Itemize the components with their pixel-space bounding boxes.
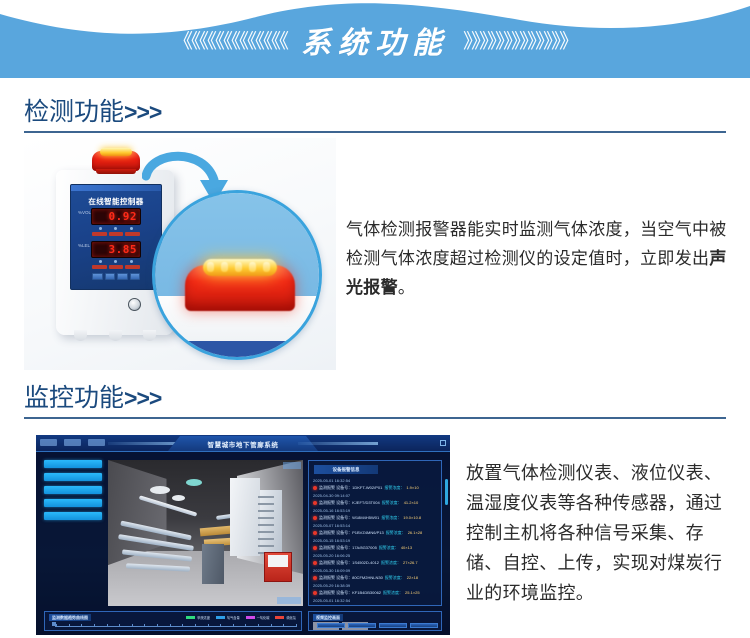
alarm-panel-title: 设备报警信息 [314,465,378,474]
alarm-date: 2025-04-30 09:14:07 [313,492,437,499]
legend-item[interactable]: 甲烷浓度 [186,615,210,620]
alarm-row[interactable]: 监测报警 设备号：KJEFT/D3T004报警浓度：41.2×10 [313,499,437,507]
legend-label: 硫化氢 [286,615,296,620]
alarm-beacon [88,146,144,173]
sensor-value-button[interactable] [348,623,376,628]
alarm-value: 26.1×28 [408,529,423,537]
sidebar-item-2[interactable] [44,486,102,494]
alarm-row[interactable]: 监测报警 设备号：1S4502D-4012报警浓度：27×26.7 [313,559,437,567]
alarm-date: 2025-05-29 16:38:39 [313,582,437,589]
ceiling-lamp [172,495,185,501]
alarm-log-list[interactable]: 2025-05-01 16:32:54 监测报警 设备号：1DKFT-W02/P… [313,477,437,604]
legend-label: 氧气含量 [227,615,240,620]
sidebar-item-0[interactable] [44,460,102,468]
sensor-value-button[interactable] [410,623,438,628]
section-title-monitoring: 监控功能>>> [24,378,161,414]
detection-description-tail: 。 [398,278,415,297]
section-title-detection-arrows: >>> [124,99,161,125]
alarm-value-label: 报警浓度： [379,544,399,552]
alarm-text: 监测报警 设备号：1DKFT-W02/P01 [319,484,382,492]
indicator-tags-primary [92,232,140,236]
alarm-text: 监测报警 设备号：P1BVZ4MN6/P13 [319,529,384,537]
alarm-text: 监测报警 设备号：80CFM2HNLN30 [319,574,383,582]
tunnel-wall-left [108,460,167,565]
dashboard-title: 智慧城市地下管廊系统 [208,439,279,449]
alarm-dot-icon [313,516,317,520]
alarm-row[interactable]: 监测报警 设备号：17A/8G37005报警浓度：40×13 [313,544,437,552]
alarm-panel-scrollbar[interactable] [445,479,448,505]
ceiling-lamp [186,479,202,486]
alarm-value: 41.2×10 [404,499,419,507]
alarm-dot-icon [313,591,317,595]
ceiling-lamp [150,486,170,494]
tunnel-door [202,544,224,584]
chart-title: 监测数据趋势曲线图 [52,615,88,621]
led-display-secondary: 3.85 [91,241,141,258]
monitoring-dashboard-screenshot: 智慧城市地下管廊系统 [24,427,462,638]
indicator-tags-secondary [92,265,140,269]
alarm-text: 监测报警 设备号：W18M4H5W01 [319,514,379,522]
detection-description: 气体检测报警器能实时监测气体浓度，当空气中被检测气体浓度超过检测仪的设定值时，立… [346,215,738,302]
alarm-row[interactable]: 监测报警 设备号：P1BVZ4MN6/P13报警浓度：26.1×28 [313,529,437,537]
legend-label: 一氧化碳 [257,615,270,620]
sidebar-item-4[interactable] [44,512,102,520]
beacon-lamp [100,148,132,156]
controller-knob[interactable] [128,298,141,311]
dashboard-title-plate: 智慧城市地下管廊系统 [168,436,318,451]
beacon-base [96,169,136,174]
alarm-dot-icon [313,576,317,580]
sensor-value-button[interactable] [379,623,407,628]
sidebar-item-3[interactable] [44,499,102,507]
page-title: 系统功能 [301,18,449,62]
alarm-value-label: 报警浓度： [381,559,401,567]
dashboard-logo [40,439,105,446]
chevrons-left-icon: 《《《《《《《《《《《《《 [173,31,287,51]
alarm-date: 2025-05-01 16:32:54 [313,597,437,604]
alarm-value: 27×26.7 [403,559,418,567]
indicator-dots-secondary [93,260,139,263]
chart-y-ticks [52,622,55,626]
sidebar-item-1[interactable] [44,473,102,481]
alarm-dot-icon [313,531,317,535]
dashboard-screen: 智慧城市地下管廊系统 [36,435,450,635]
section-title-detection-text: 检测功能 [24,98,124,126]
alarm-date: 2025-05-30 16:09:09 [313,567,437,574]
divider-detection [24,131,726,133]
monitoring-description: 放置气体检测仪表、液位仪表、温湿度仪表等各种传感器，通过控制主机将各种信号采集、… [466,458,734,608]
legend-swatch [275,616,284,619]
alarm-row[interactable]: 监测报警 设备号：KF1B4DB30062报警浓度：25.1×25 [313,589,437,597]
dashboard-header: 智慧城市地下管廊系统 [36,435,450,452]
video-monitor-panel: 视频监控画面 [308,611,442,631]
section-title-detection: 检测功能>>> [24,92,161,128]
header-banner: 《《《《《《《《《《《《《 系统功能 》》》》》》》》》》》》》 [0,0,750,78]
detection-product-photo: 在线智能控制器 %VOL 0.92 %LEL 3.85 [24,138,336,370]
chart-x-ticks [56,624,297,627]
dashboard-close-icon[interactable] [440,440,446,446]
alarm-row[interactable]: 监测报警 设备号：1DKFT-W02/P01报警浓度：1.9×10 [313,484,437,492]
alarm-value-label: 报警浓度： [381,514,401,522]
magnified-beacon [181,255,299,311]
equipment-cabinet [230,478,260,556]
alarm-row[interactable]: 监测报警 设备号：80CFM2HNLN30报警浓度：22×18 [313,574,437,582]
sensor-value-button[interactable] [317,623,345,628]
indicator-dots-primary [93,227,139,230]
alarm-date: 2025-05-15 16:53:19 [313,537,437,544]
legend-item[interactable]: 一氧化碳 [246,615,270,620]
chart-panel-title: 监测数据趋势曲线图 [49,614,91,621]
sensor-value-buttons[interactable] [317,623,438,628]
alarm-log-panel: 设备报警信息 2025-05-01 16:32:54 监测报警 设备号：1DKF… [308,460,442,606]
legend-item[interactable]: 硫化氢 [275,615,296,620]
led-value-secondary: 3.85 [109,243,138,256]
alarm-dot-icon [313,486,317,490]
alarm-value: 22×18 [407,574,418,582]
led-value-primary: 0.92 [109,210,138,223]
alarm-value: 25.1×25 [405,589,420,597]
magnified-beacon-lamp [203,259,277,276]
view3d-bottom-label[interactable] [277,597,301,604]
chart-legend[interactable]: 甲烷浓度 氧气含量 一氧化碳 硫化氢 [186,615,296,620]
trend-chart-panel: 监测数据趋势曲线图 甲烷浓度 氧气含量 一氧化碳 硫化氢 [44,611,302,631]
alarm-value-label: 报警浓度： [383,589,403,597]
alarm-dot-icon [313,561,317,565]
alarm-row[interactable]: 监测报警 设备号：W18M4H5W01报警浓度：19.0×10.8 [313,514,437,522]
legend-label: 甲烷浓度 [197,615,210,620]
video-panel-title-text: 视频监控画面 [316,615,340,621]
alarm-dot-icon [313,546,317,550]
legend-swatch [186,616,195,619]
legend-item[interactable]: 氧气含量 [216,615,240,620]
alarm-box-3d [264,552,292,582]
magnifier-blue-band [155,341,319,357]
magnifier-callout [152,190,322,360]
chart-plot-area [55,622,297,627]
alarm-value-label: 报警浓度： [384,484,404,492]
video-panel-title: 视频监控画面 [313,614,343,621]
unit-label-primary: %VOL [78,211,90,216]
alarm-value: 1.9×10 [406,484,418,492]
alarm-value-label: 报警浓度： [382,499,402,507]
ladder [258,496,274,554]
view3d-label[interactable] [283,462,301,469]
alarm-date: 2025-05-07 16:53:14 [313,522,437,529]
promo-page: 《《《《《《《《《《《《《 系统功能 》》》》》》》》》》》》》 检测功能>>>… [0,0,750,638]
section-title-monitoring-text: 监控功能 [24,384,124,412]
alarm-text: 监测报警 设备号：KJEFT/D3T004 [319,499,380,507]
controller-feet [74,330,156,341]
legend-swatch [216,616,225,619]
legend-swatch [246,616,255,619]
unit-label-secondary: %LEL [78,244,90,249]
alarm-value: 40×13 [401,544,412,552]
tunnel-3d-view[interactable] [108,460,303,606]
divider-monitoring [24,417,726,419]
section-title-monitoring-arrows: >>> [124,385,161,411]
alarm-date: 2025-05-20 16:06:25 [313,552,437,559]
alarm-text: 监测报警 设备号：17A/8G37005 [319,544,377,552]
alarm-text: 监测报警 设备号：KF1B4DB30062 [319,589,381,597]
alarm-value-label: 报警浓度： [385,574,405,582]
alarm-date: 2025-05-01 16:32:54 [313,477,437,484]
chevrons-right-icon: 》》》》》》》》》》》》》 [463,31,577,51]
alarm-text: 监测报警 设备号：1S4502D-4012 [319,559,379,567]
alarm-panel-title-text: 设备报警信息 [333,467,360,473]
alarm-value: 19.0×10.8 [403,514,421,522]
alarm-value-label: 报警浓度： [386,529,406,537]
led-display-primary: 0.92 [91,208,141,225]
alarm-date: 2025-05-16 16:53:19 [313,507,437,514]
controller-keypad[interactable] [92,273,140,280]
dashboard-header-ribbon-right [298,442,378,445]
detection-description-part1: 气体检测报警器能实时监测气体浓度，当空气中被检测气体浓度超过检测仪的设定值时，立… [346,220,727,268]
alarm-dot-icon [313,501,317,505]
dashboard-sidebar[interactable] [44,460,102,525]
